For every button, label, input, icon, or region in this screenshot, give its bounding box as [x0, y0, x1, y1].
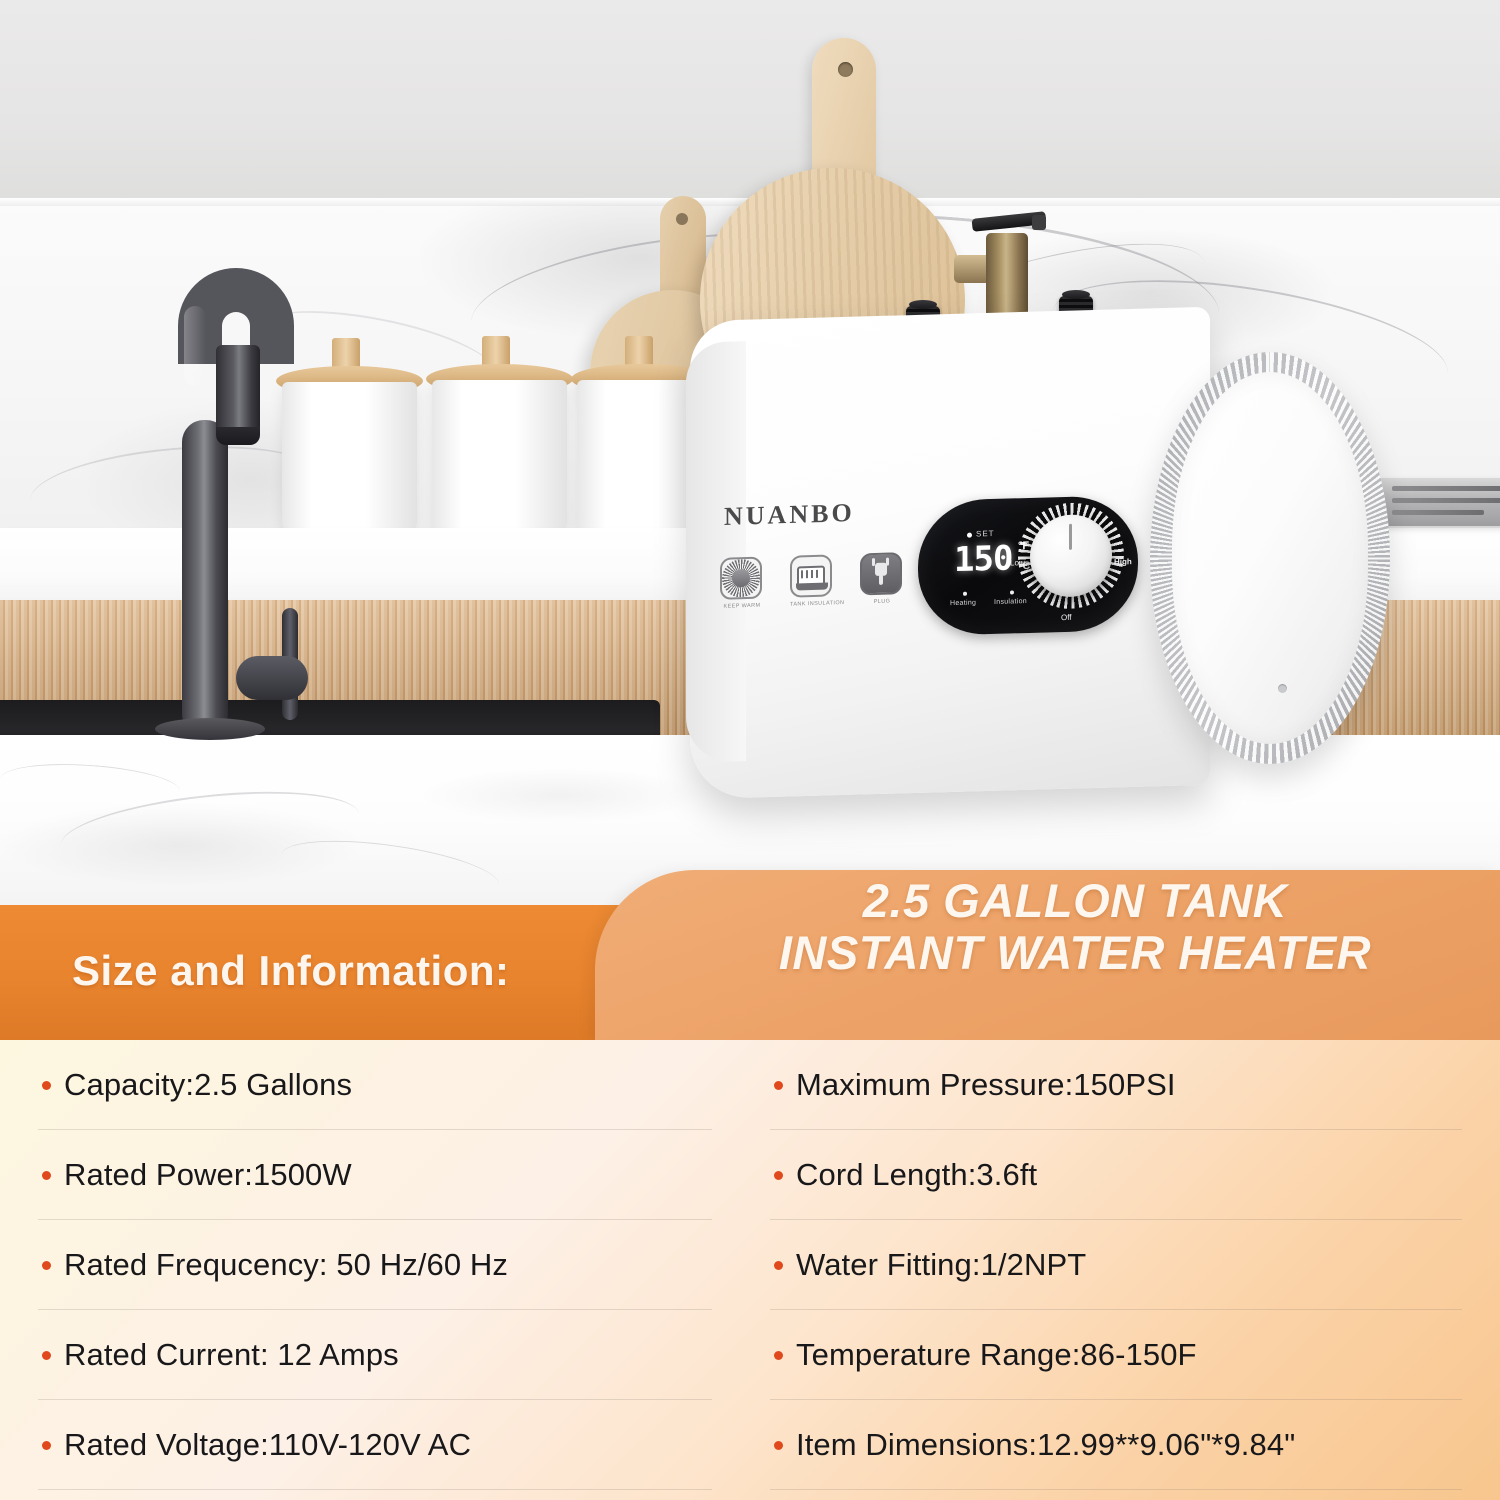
insulation-label: Insulation: [994, 598, 1027, 606]
cooktop-grate: [1392, 510, 1484, 515]
set-label: SET: [976, 529, 995, 539]
plug-and-play-icon: [860, 552, 902, 595]
cutting-board-large-hole: [838, 62, 853, 77]
water-heater-unit: NUANBO KEEP WARM TANK INSULATION: [690, 300, 1390, 810]
bullet-icon: [774, 1171, 783, 1180]
marble-vein: [278, 830, 503, 905]
heater-left-edge: [686, 341, 746, 763]
spec-row: Cord Length:3.6ft: [770, 1130, 1462, 1220]
brand-logo: NUANBO: [724, 498, 855, 532]
spec-row: Water Fitting:1/2NPT: [770, 1220, 1462, 1310]
spec-rated-current: Rated Current: 12 Amps: [64, 1337, 399, 1373]
hero-product-photo: NUANBO KEEP WARM TANK INSULATION: [0, 0, 1500, 905]
spec-temperature-range: Temperature Range:86-150F: [796, 1337, 1197, 1373]
heating-indicator-dot: [963, 592, 967, 596]
insulation-indicator-dot: [1010, 590, 1014, 594]
feature-icon-row: KEEP WARM TANK INSULATION PLUG: [720, 552, 904, 610]
relief-valve-nut: [1032, 215, 1046, 230]
feature-tank-insulation: TANK INSULATION: [790, 554, 834, 607]
faucet-base: [155, 718, 265, 740]
heater-end-cap: [1150, 352, 1390, 764]
specifications-section: Capacity:2.5 Gallons Rated Power:1500W R…: [0, 1040, 1500, 1500]
specs-left-column: Capacity:2.5 Gallons Rated Power:1500W R…: [0, 1040, 750, 1490]
end-cap-vent-dot: [1278, 684, 1287, 693]
knob-label-high: High: [1114, 557, 1132, 566]
marble-vein: [0, 759, 181, 811]
bullet-icon: [774, 1351, 783, 1360]
spec-cord-length: Cord Length:3.6ft: [796, 1157, 1037, 1193]
bullet-icon: [42, 1351, 51, 1360]
bullet-icon: [774, 1081, 783, 1090]
spec-row: Item Dimensions:12.99**9.06"*9.84": [770, 1400, 1462, 1490]
relief-valve-outlet: [954, 255, 990, 283]
spec-maximum-pressure: Maximum Pressure:150PSI: [796, 1067, 1176, 1103]
bullet-icon: [42, 1171, 51, 1180]
spec-capacity: Capacity:2.5 Gallons: [64, 1067, 352, 1103]
spec-water-fitting: Water Fitting:1/2NPT: [796, 1247, 1086, 1283]
plug-glyph: [871, 563, 891, 586]
spec-row: Capacity:2.5 Gallons: [38, 1040, 712, 1130]
faucet-column: [182, 420, 228, 725]
headline-line-2: INSTANT WATER HEATER: [660, 927, 1490, 979]
specs-right-column: Maximum Pressure:150PSI Cord Length:3.6f…: [750, 1040, 1500, 1490]
title-banner: Size and Information: 2.5 GALLON TANK IN…: [0, 905, 1500, 1040]
faucet-spout: [216, 345, 260, 445]
specs-columns: Capacity:2.5 Gallons Rated Power:1500W R…: [0, 1040, 1500, 1490]
product-infographic-page: NUANBO KEEP WARM TANK INSULATION: [0, 0, 1500, 1500]
cooktop-grate: [1392, 498, 1500, 503]
tank-glyph: [797, 566, 825, 587]
cutting-board-small-hole: [676, 213, 688, 225]
keep-warm-icon: [720, 557, 762, 600]
bullet-icon: [42, 1441, 51, 1450]
canister-1: [282, 382, 417, 534]
plug-prong: [872, 558, 875, 566]
relief-valve-body: [986, 233, 1028, 321]
plug-prong: [886, 558, 889, 566]
knob-label-low: Low: [1010, 558, 1025, 567]
knob-label-off: Off: [1061, 613, 1072, 622]
feature-keep-warm: KEEP WARM: [720, 557, 764, 610]
spec-row: Rated Power:1500W: [38, 1130, 712, 1220]
bullet-icon: [42, 1081, 51, 1090]
bullet-icon: [774, 1261, 783, 1270]
end-cap-face: [1172, 372, 1368, 744]
spec-row: Maximum Pressure:150PSI: [770, 1040, 1462, 1130]
set-indicator-dot: [967, 533, 972, 538]
headline-line-1: 2.5 GALLON TANK: [863, 874, 1287, 927]
product-headline: 2.5 GALLON TANK INSTANT WATER HEATER: [660, 875, 1490, 978]
faucet-handle-hub[interactable]: [236, 656, 308, 700]
tank-insulation-icon: [790, 554, 832, 597]
spec-rated-power: Rated Power:1500W: [64, 1157, 352, 1193]
spec-item-dimensions: Item Dimensions:12.99**9.06"*9.84": [796, 1427, 1295, 1463]
spec-row: Rated Frequcency: 50 Hz/60 Hz: [38, 1220, 712, 1310]
canister-2: [432, 380, 567, 534]
kitchen-wall: [0, 0, 1500, 205]
bullet-icon: [774, 1441, 783, 1450]
spec-row: Rated Voltage:110V-120V AC: [38, 1400, 712, 1490]
control-panel[interactable]: SET 150 °F °C Heating Insulation Low Hig…: [918, 495, 1138, 636]
gas-cooktop: [1378, 478, 1500, 526]
spec-rated-frequency: Rated Frequcency: 50 Hz/60 Hz: [64, 1247, 508, 1283]
heating-label: Heating: [950, 599, 976, 607]
marble-vein: [27, 436, 323, 541]
spec-row: Temperature Range:86-150F: [770, 1310, 1462, 1400]
size-information-heading: Size and Information:: [72, 947, 510, 995]
cooktop-grate: [1392, 486, 1500, 491]
knob-pointer: [1069, 524, 1072, 550]
feature-plug: PLUG: [860, 552, 904, 605]
spec-rated-voltage: Rated Voltage:110V-120V AC: [64, 1427, 471, 1463]
temperature-display: 150: [954, 538, 1012, 580]
spec-row: Rated Current: 12 Amps: [38, 1310, 712, 1400]
bullet-icon: [42, 1261, 51, 1270]
